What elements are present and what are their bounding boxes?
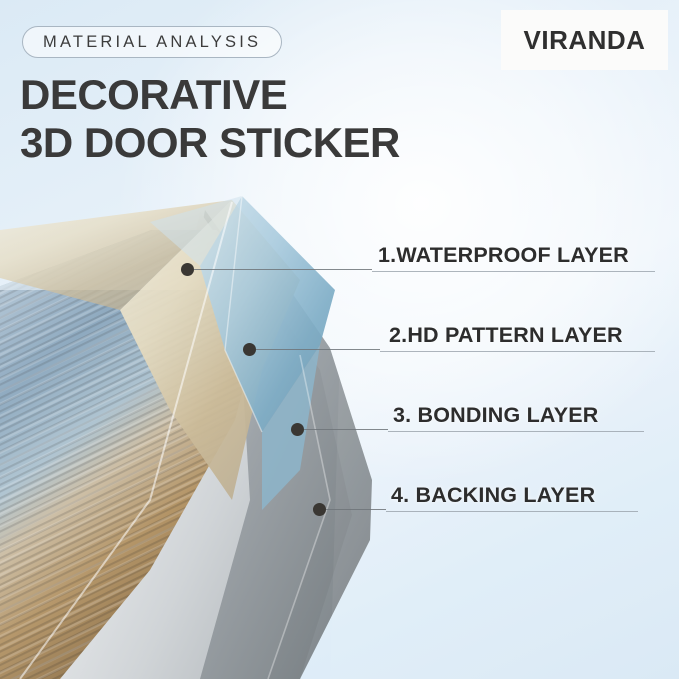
callout-leader-line	[326, 509, 386, 510]
page-title-line1: DECORATIVE	[20, 74, 287, 116]
callout-leader-line	[304, 429, 388, 430]
eyebrow-badge: MATERIAL ANALYSIS	[22, 26, 282, 58]
callout-leader-line	[194, 269, 372, 270]
callout-dot	[181, 263, 194, 276]
callout-rule	[386, 511, 638, 512]
brand-logo: VIRANDA	[501, 10, 668, 70]
callout-rule	[388, 431, 644, 432]
callout-rule	[372, 271, 655, 272]
callout-dot	[243, 343, 256, 356]
brand-name: VIRANDA	[524, 25, 646, 56]
callout-dot	[291, 423, 304, 436]
eyebrow-label: MATERIAL ANALYSIS	[43, 33, 261, 52]
callout-rule	[380, 351, 655, 352]
page-title-line2: 3D DOOR STICKER	[20, 122, 400, 164]
poster-canvas: MATERIAL ANALYSIS DECORATIVE 3D DOOR STI…	[0, 0, 679, 679]
callout-leader-line	[256, 349, 380, 350]
callout-dot	[313, 503, 326, 516]
